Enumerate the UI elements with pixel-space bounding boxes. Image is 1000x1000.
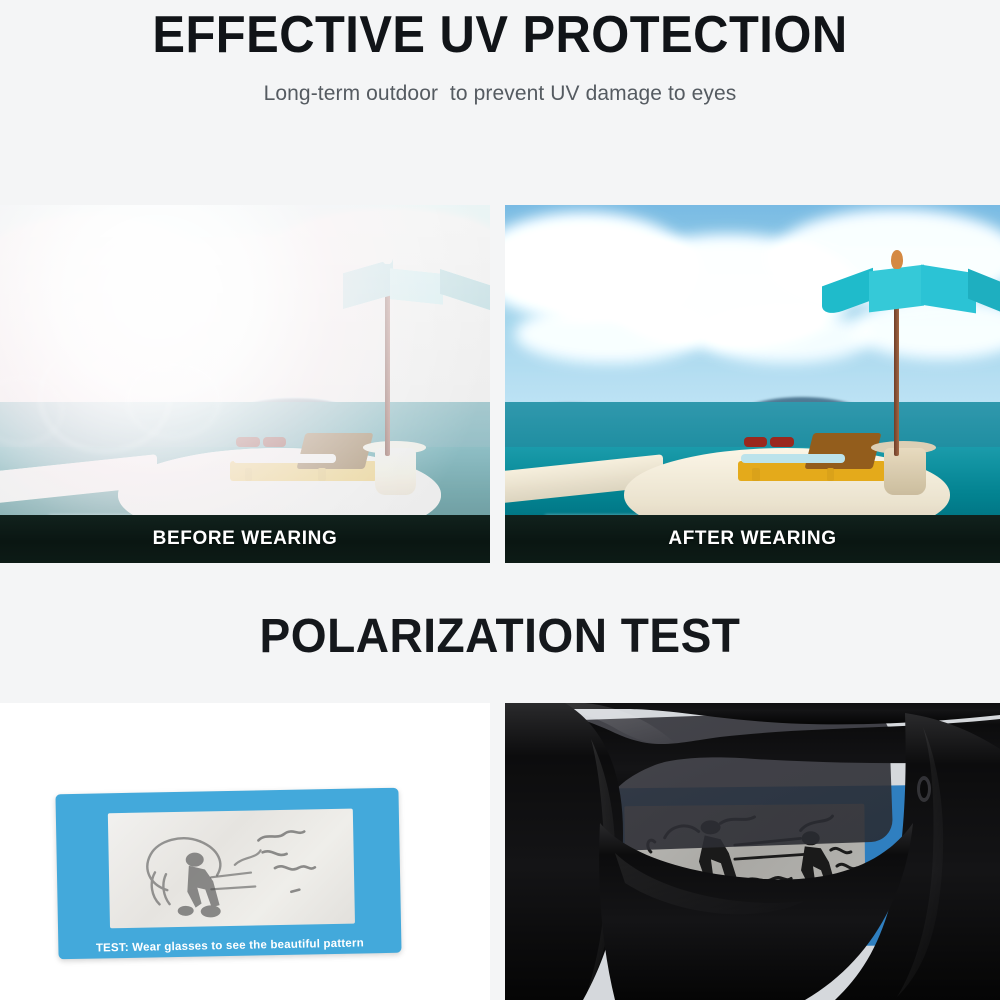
cloud xyxy=(703,312,871,362)
page-subtitle: Long-term outdoor to prevent UV damage t… xyxy=(0,82,1000,106)
polarization-section: POLARIZATION TEST xyxy=(0,563,1000,703)
photo-panel-after: AFTER WEARING xyxy=(505,205,1000,563)
hidden-pattern-faint-icon xyxy=(108,809,355,929)
test-card-caption: TEST: Wear glasses to see the beautiful … xyxy=(58,937,401,956)
lens-flare xyxy=(127,363,219,439)
test-card-caption-behind-lens: TEST: Wear glasses to see the beautiful … xyxy=(578,928,913,944)
caption-label-after: AFTER WEARING xyxy=(668,528,836,550)
cloud xyxy=(304,305,490,369)
sunglasses-lens xyxy=(559,709,893,852)
caption-bar-after: AFTER WEARING xyxy=(505,515,1000,563)
polarization-test-card: TEST: Wear glasses to see the beautiful … xyxy=(55,788,401,960)
side-table-body xyxy=(884,448,926,495)
hero-section: EFFECTIVE UV PROTECTION Long-term outdoo… xyxy=(0,0,1000,205)
comparison-row: BEFORE WEARING xyxy=(0,205,1000,563)
page-title: EFFECTIVE UV PROTECTION xyxy=(30,5,970,65)
sunglasses-stage: TEST: Wear glasses to see the beautiful … xyxy=(505,703,1000,1000)
cloud xyxy=(515,305,703,362)
test-row: TEST: Wear glasses to see the beautiful … xyxy=(0,703,1000,1000)
lounge-chair xyxy=(230,423,377,480)
side-table-body xyxy=(375,448,417,495)
caption-label-before: BEFORE WEARING xyxy=(153,528,338,550)
section-title-polarization: POLARIZATION TEST xyxy=(20,609,980,664)
photo-panel-before: BEFORE WEARING xyxy=(0,205,490,563)
caption-bar-before: BEFORE WEARING xyxy=(0,515,490,563)
test-card-window xyxy=(108,809,355,929)
test-panel-through-lens: TEST: Wear glasses to see the beautiful … xyxy=(505,703,1000,1000)
lounge-chair xyxy=(738,423,887,480)
beach-scene-after xyxy=(505,205,1000,563)
test-panel-naked-eye: TEST: Wear glasses to see the beautiful … xyxy=(0,703,490,1000)
